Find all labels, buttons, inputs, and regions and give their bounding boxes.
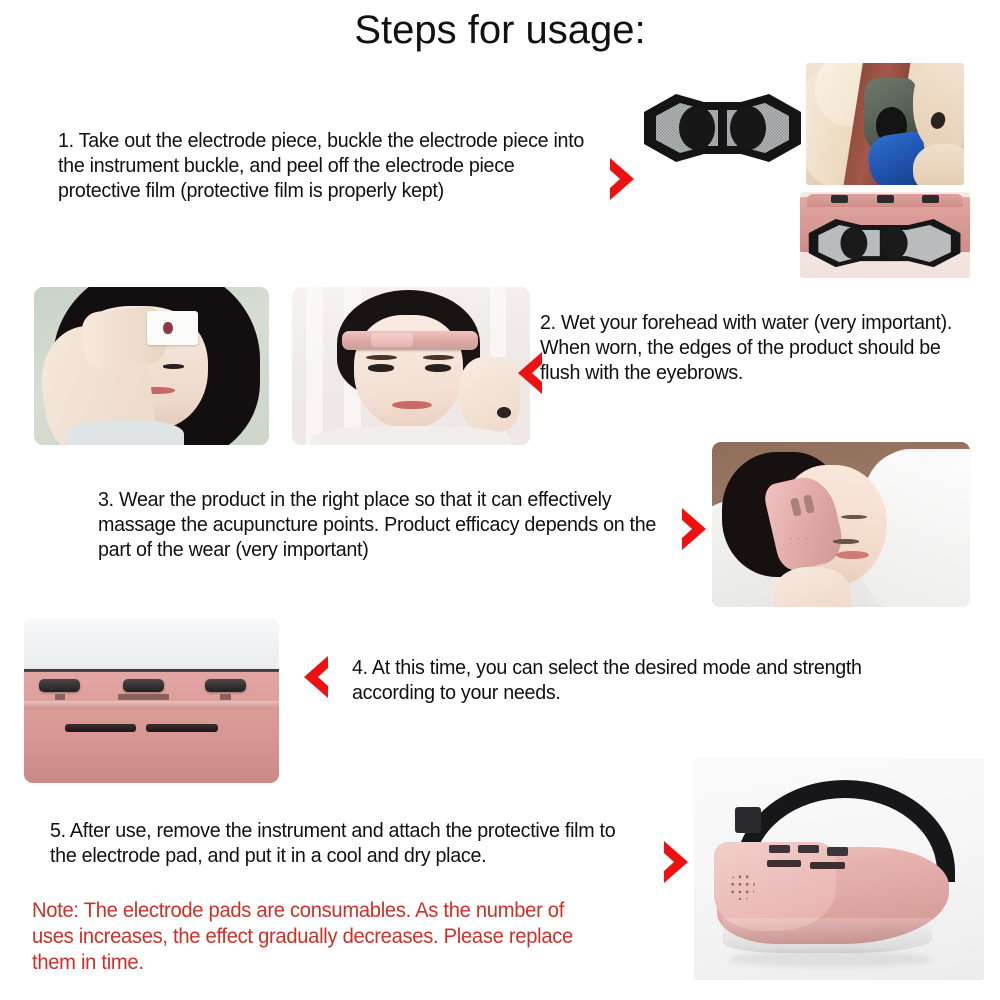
page-title: Steps for usage: <box>0 8 1000 53</box>
step-4-text: 4. At this time, you can select the desi… <box>352 655 928 705</box>
woman-sleeping-with-device-photo <box>712 442 970 607</box>
chevron-right-icon-step-3 <box>676 505 714 553</box>
chevron-right-icon-step-5 <box>658 838 696 886</box>
chevron-left-icon-step-4 <box>296 652 334 702</box>
peeling-protective-film-photo <box>806 63 964 185</box>
device-control-buttons-closeup-photo <box>24 618 279 783</box>
electrode-pad-attached-to-device-photo <box>800 192 970 278</box>
step-3-text: 3. Wear the product in the right place s… <box>98 487 674 562</box>
step-2-text: 2. Wet your forehead with water (very im… <box>540 310 962 385</box>
step-1-text: 1. Take out the electrode piece, buckle … <box>58 128 596 203</box>
note-text: Note: The electrode pads are consumables… <box>32 898 608 976</box>
woman-wetting-forehead-photo <box>34 287 269 445</box>
full-product-headband-photo <box>694 758 984 980</box>
woman-wearing-headband-photo <box>292 287 530 445</box>
step-5-text: 5. After use, remove the instrument and … <box>50 818 636 868</box>
infographic-page: Steps for usage: 1. Take out the electro… <box>0 0 1000 1000</box>
electrode-pad-photo <box>630 78 815 178</box>
